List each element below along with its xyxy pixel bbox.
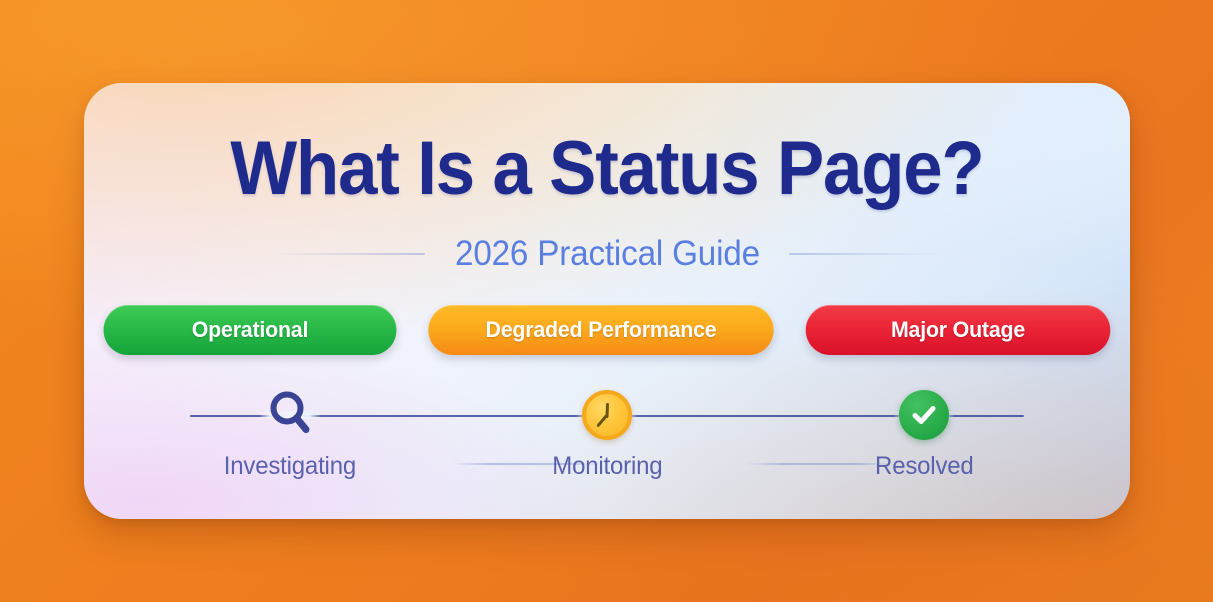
timeline-step-label: Investigating xyxy=(224,452,356,481)
timeline-step-resolved[interactable]: Resolved xyxy=(824,388,1024,481)
infographic-canvas: What Is a Status Page? 2026 Practical Gu… xyxy=(0,0,1213,602)
page-title: What Is a Status Page? xyxy=(121,131,1094,207)
status-pill-operational[interactable]: Operational xyxy=(104,305,397,355)
timeline-step-icon-slot xyxy=(578,386,636,444)
timeline-step-icon-slot xyxy=(895,386,953,444)
magnifier-icon xyxy=(263,386,317,445)
timeline-step-label: Resolved xyxy=(875,452,974,481)
check-circle-icon xyxy=(899,390,949,440)
subtitle-rule-right xyxy=(789,253,941,255)
status-pill-row: Operational Degraded Performance Major O… xyxy=(84,305,1130,355)
clock-icon xyxy=(582,390,632,440)
timeline-step-monitoring[interactable]: Monitoring xyxy=(507,388,707,481)
page-subtitle: 2026 Practical Guide xyxy=(455,234,760,274)
status-pill-degraded-performance[interactable]: Degraded Performance xyxy=(428,305,773,355)
status-page-card: What Is a Status Page? 2026 Practical Gu… xyxy=(84,83,1130,519)
status-pill-major-outage[interactable]: Major Outage xyxy=(806,305,1111,355)
timeline-step-icon-slot xyxy=(261,386,319,444)
subtitle-rule-left xyxy=(273,253,425,255)
incident-timeline: Investigating Monitoring xyxy=(190,388,1024,498)
timeline-step-investigating[interactable]: Investigating xyxy=(190,388,390,481)
timeline-step-label: Monitoring xyxy=(552,452,662,481)
subtitle-row: 2026 Practical Guide xyxy=(84,233,1130,275)
